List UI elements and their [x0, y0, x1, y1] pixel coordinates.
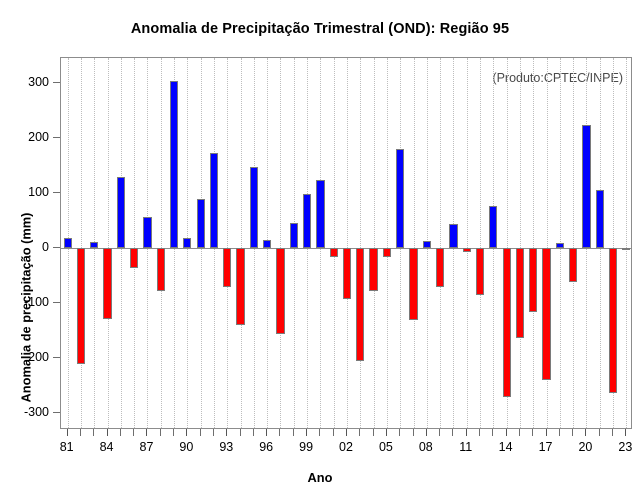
x-tick-label: 84	[100, 440, 114, 454]
x-tick-label: 05	[379, 440, 393, 454]
y-tick-mark	[53, 82, 60, 83]
bar-96	[263, 240, 271, 248]
bar-88	[157, 248, 165, 291]
bar-17	[542, 248, 550, 380]
gridline-vertical	[533, 58, 534, 428]
gridline-vertical	[347, 58, 348, 428]
gridline-vertical	[573, 58, 574, 428]
y-tick-mark	[53, 357, 60, 358]
x-tick-mark	[160, 429, 161, 436]
bar-14	[503, 248, 511, 397]
plot-area: (Produto:CPTEC/INPE)	[60, 57, 632, 429]
x-tick-mark	[67, 429, 68, 436]
y-axis: Anomalia de precipitação (mm) 3002001000…	[0, 57, 60, 429]
bar-83	[90, 242, 98, 248]
bar-00	[316, 180, 324, 248]
x-axis: 818487909396990205081114172023	[60, 429, 632, 469]
bar-99	[303, 194, 311, 248]
bar-23	[622, 248, 630, 250]
x-tick-mark	[386, 429, 387, 436]
gridline-vertical	[280, 58, 281, 428]
bar-90	[183, 238, 191, 248]
bar-13	[489, 206, 497, 248]
x-tick-mark	[226, 429, 227, 436]
x-tick-label: 02	[339, 440, 353, 454]
y-tick-label: 200	[28, 130, 49, 144]
x-tick-label: 17	[539, 440, 553, 454]
gridline-vertical	[81, 58, 82, 428]
gridline-vertical	[387, 58, 388, 428]
bar-06	[396, 149, 404, 248]
y-tick-mark	[53, 247, 60, 248]
x-tick-mark	[213, 429, 214, 436]
x-tick-mark	[585, 429, 586, 436]
bar-07	[409, 248, 417, 320]
gridline-vertical	[414, 58, 415, 428]
bar-11	[463, 248, 471, 252]
x-tick-mark	[572, 429, 573, 436]
bar-91	[197, 199, 205, 248]
x-tick-label: 23	[618, 440, 632, 454]
x-tick-label: 93	[219, 440, 233, 454]
y-tick-label: -200	[24, 350, 49, 364]
x-tick-label: 81	[60, 440, 74, 454]
gridline-vertical	[360, 58, 361, 428]
bar-01	[330, 248, 338, 257]
x-tick-mark	[186, 429, 187, 436]
bar-93	[223, 248, 231, 287]
x-tick-mark	[399, 429, 400, 436]
x-tick-mark	[519, 429, 520, 436]
x-tick-mark	[306, 429, 307, 436]
bar-16	[529, 248, 537, 311]
bar-92	[210, 153, 218, 248]
gridline-vertical	[161, 58, 162, 428]
bar-09	[436, 248, 444, 287]
x-tick-mark	[173, 429, 174, 436]
x-tick-label: 87	[140, 440, 154, 454]
bar-08	[423, 241, 431, 248]
gridline-vertical	[108, 58, 109, 428]
bar-82	[77, 248, 85, 364]
x-tick-mark	[293, 429, 294, 436]
gridline-vertical	[440, 58, 441, 428]
x-tick-mark	[479, 429, 480, 436]
bar-21	[596, 190, 604, 248]
bar-03	[356, 248, 364, 361]
y-tick-mark	[53, 192, 60, 193]
x-tick-mark	[146, 429, 147, 436]
bar-10	[449, 224, 457, 248]
bar-81	[64, 238, 72, 248]
x-tick-mark	[266, 429, 267, 436]
gridline-vertical	[241, 58, 242, 428]
y-tick-mark	[53, 137, 60, 138]
y-tick-mark	[53, 412, 60, 413]
gridline-vertical	[227, 58, 228, 428]
x-tick-label: 08	[419, 440, 433, 454]
x-tick-mark	[426, 429, 427, 436]
produto-annotation: (Produto:CPTEC/INPE)	[492, 71, 623, 85]
bar-98	[290, 223, 298, 248]
x-tick-mark	[506, 429, 507, 436]
x-tick-mark	[452, 429, 453, 436]
y-tick-label: 100	[28, 185, 49, 199]
bar-18	[556, 243, 564, 249]
bar-05	[383, 248, 391, 257]
gridline-vertical	[626, 58, 627, 428]
x-tick-mark	[253, 429, 254, 436]
x-tick-mark	[133, 429, 134, 436]
bar-97	[276, 248, 284, 334]
bar-12	[476, 248, 484, 295]
x-tick-label: 90	[179, 440, 193, 454]
gridline-vertical	[134, 58, 135, 428]
x-tick-mark	[599, 429, 600, 436]
bar-20	[582, 125, 590, 248]
bar-84	[103, 248, 111, 319]
x-tick-label: 96	[259, 440, 273, 454]
gridline-vertical	[334, 58, 335, 428]
x-tick-label: 14	[499, 440, 513, 454]
x-tick-mark	[612, 429, 613, 436]
x-tick-mark	[346, 429, 347, 436]
x-tick-mark	[546, 429, 547, 436]
bar-89	[170, 81, 178, 249]
y-tick-label: 0	[42, 240, 49, 254]
bar-86	[130, 248, 138, 268]
bar-94	[236, 248, 244, 325]
bar-22	[609, 248, 617, 393]
y-tick-mark	[53, 302, 60, 303]
x-tick-mark	[240, 429, 241, 436]
bar-19	[569, 248, 577, 282]
x-tick-mark	[439, 429, 440, 436]
x-tick-mark	[359, 429, 360, 436]
gridline-vertical	[467, 58, 468, 428]
gridline-vertical	[374, 58, 375, 428]
x-tick-mark	[559, 429, 560, 436]
x-axis-title: Ano	[0, 470, 640, 485]
x-tick-mark	[107, 429, 108, 436]
x-tick-mark	[80, 429, 81, 436]
bar-95	[250, 167, 258, 249]
x-tick-mark	[333, 429, 334, 436]
x-tick-mark	[120, 429, 121, 436]
x-tick-label: 20	[578, 440, 592, 454]
precipitation-anomaly-chart: Anomalia de Precipitação Trimestral (OND…	[0, 0, 640, 500]
x-tick-mark	[532, 429, 533, 436]
x-tick-mark	[492, 429, 493, 436]
x-tick-mark	[319, 429, 320, 436]
bar-15	[516, 248, 524, 338]
x-tick-label: 11	[459, 440, 472, 454]
page-title: Anomalia de Precipitação Trimestral (OND…	[0, 21, 640, 37]
bar-04	[369, 248, 377, 291]
x-tick-mark	[279, 429, 280, 436]
y-tick-label: 300	[28, 75, 49, 89]
y-tick-label: -300	[24, 405, 49, 419]
x-tick-mark	[413, 429, 414, 436]
x-tick-mark	[466, 429, 467, 436]
x-tick-label: 99	[299, 440, 313, 454]
x-tick-mark	[200, 429, 201, 436]
bar-87	[143, 217, 151, 248]
bar-85	[117, 177, 125, 248]
y-tick-label: -100	[24, 295, 49, 309]
gridline-vertical	[520, 58, 521, 428]
bar-02	[343, 248, 351, 299]
gridline-vertical	[480, 58, 481, 428]
x-tick-mark	[625, 429, 626, 436]
x-tick-mark	[373, 429, 374, 436]
x-tick-mark	[93, 429, 94, 436]
